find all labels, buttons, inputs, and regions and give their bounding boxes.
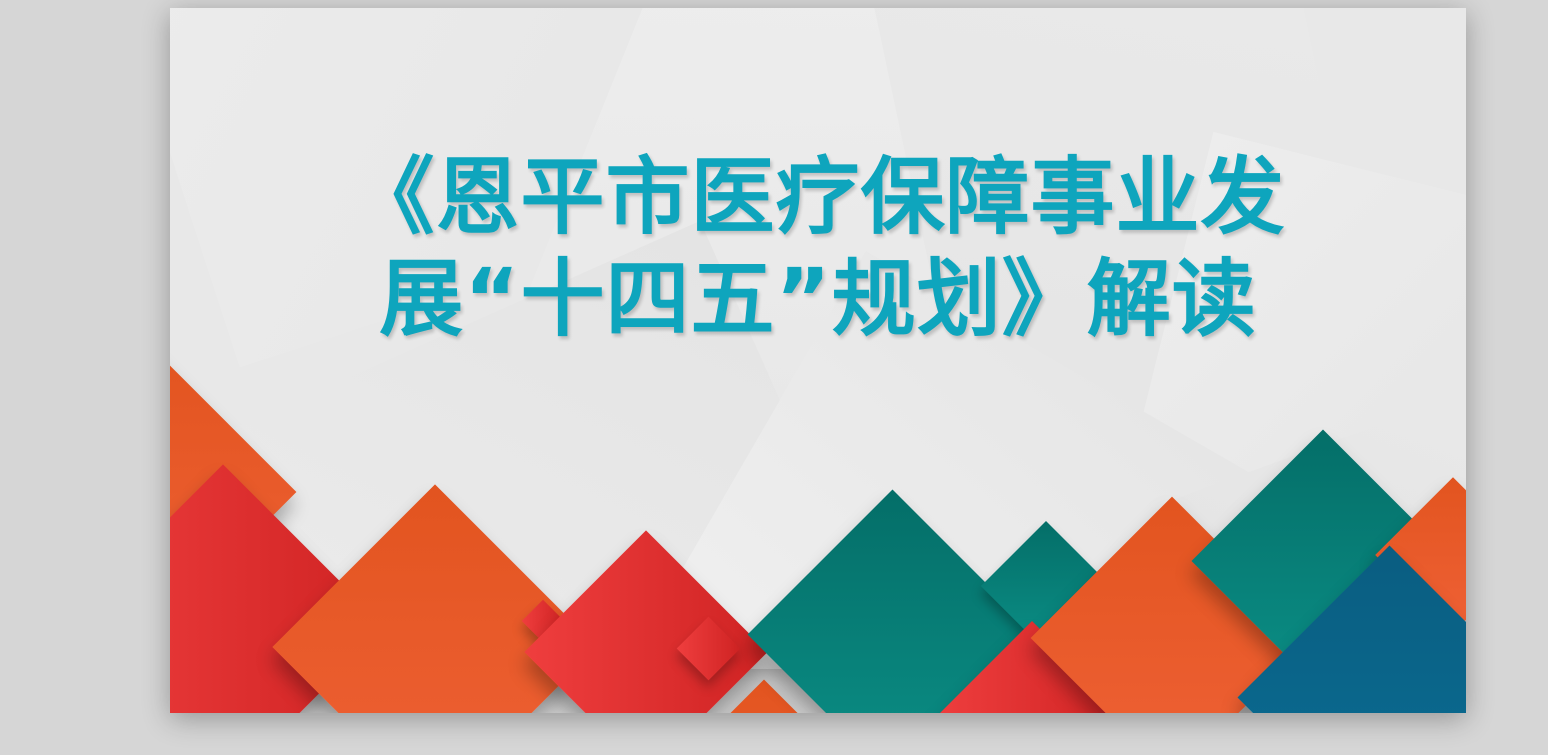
title-line-1: 《恩平市医疗保障事业发 [170, 146, 1466, 248]
title-line-2: 展“十四五”规划》解读 [170, 248, 1466, 350]
red-diamond-center [524, 530, 767, 713]
orange-diamond-left-low [272, 484, 597, 713]
slide-canvas: 《恩平市医疗保障事业发 展“十四五”规划》解读 [0, 0, 1548, 755]
page-title: 《恩平市医疗保障事业发 展“十四五”规划》解读 [170, 146, 1466, 350]
slide-panel: 《恩平市医疗保障事业发 展“十四五”规划》解读 [170, 8, 1466, 713]
